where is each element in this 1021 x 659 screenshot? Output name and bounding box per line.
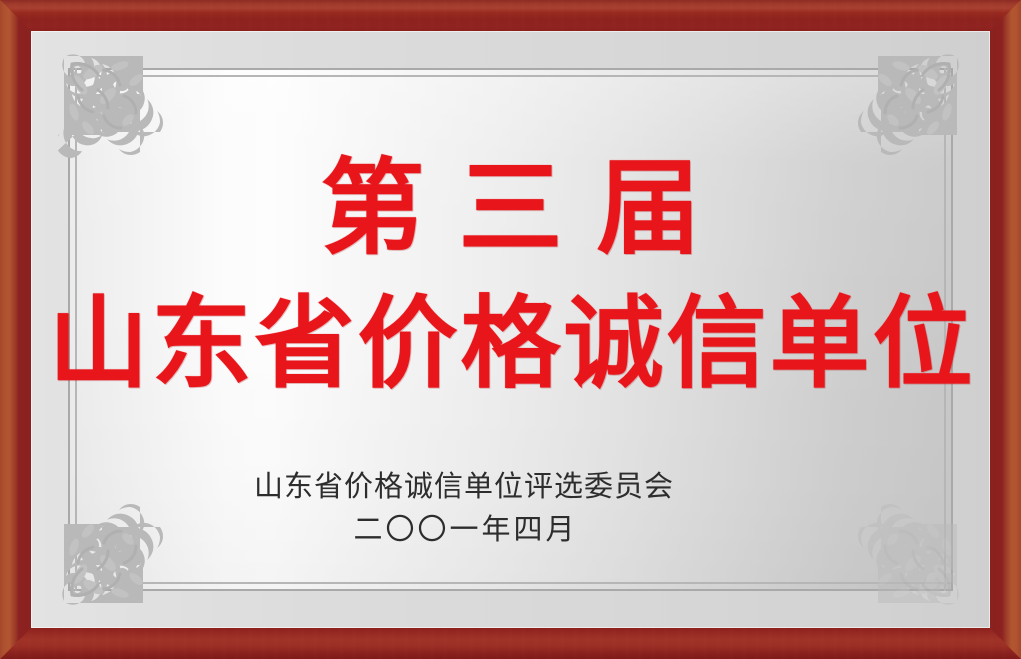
plaque-panel [68, 68, 953, 591]
frame-rail-right [990, 0, 1021, 659]
frame-rail-left [0, 0, 31, 659]
border-rule-right-outer [951, 68, 953, 591]
border-rule-top-outer [68, 68, 953, 70]
border-rule-bottom-inner [68, 582, 953, 584]
frame-rail-top [0, 0, 1021, 31]
frame-rail-bottom [0, 628, 1021, 659]
border-rule-top-inner [68, 75, 953, 77]
panel-sheen [68, 68, 953, 591]
border-rule-right-inner [944, 68, 946, 591]
border-rule-left-inner [75, 68, 77, 591]
border-rule-left-outer [68, 68, 70, 591]
plaque-mat [31, 31, 990, 628]
award-plaque: 第三届 山东省价格诚信单位 山东省价格诚信单位评选委员会 二〇〇一年四月 [0, 0, 1021, 659]
border-rule-bottom-outer [68, 589, 953, 591]
